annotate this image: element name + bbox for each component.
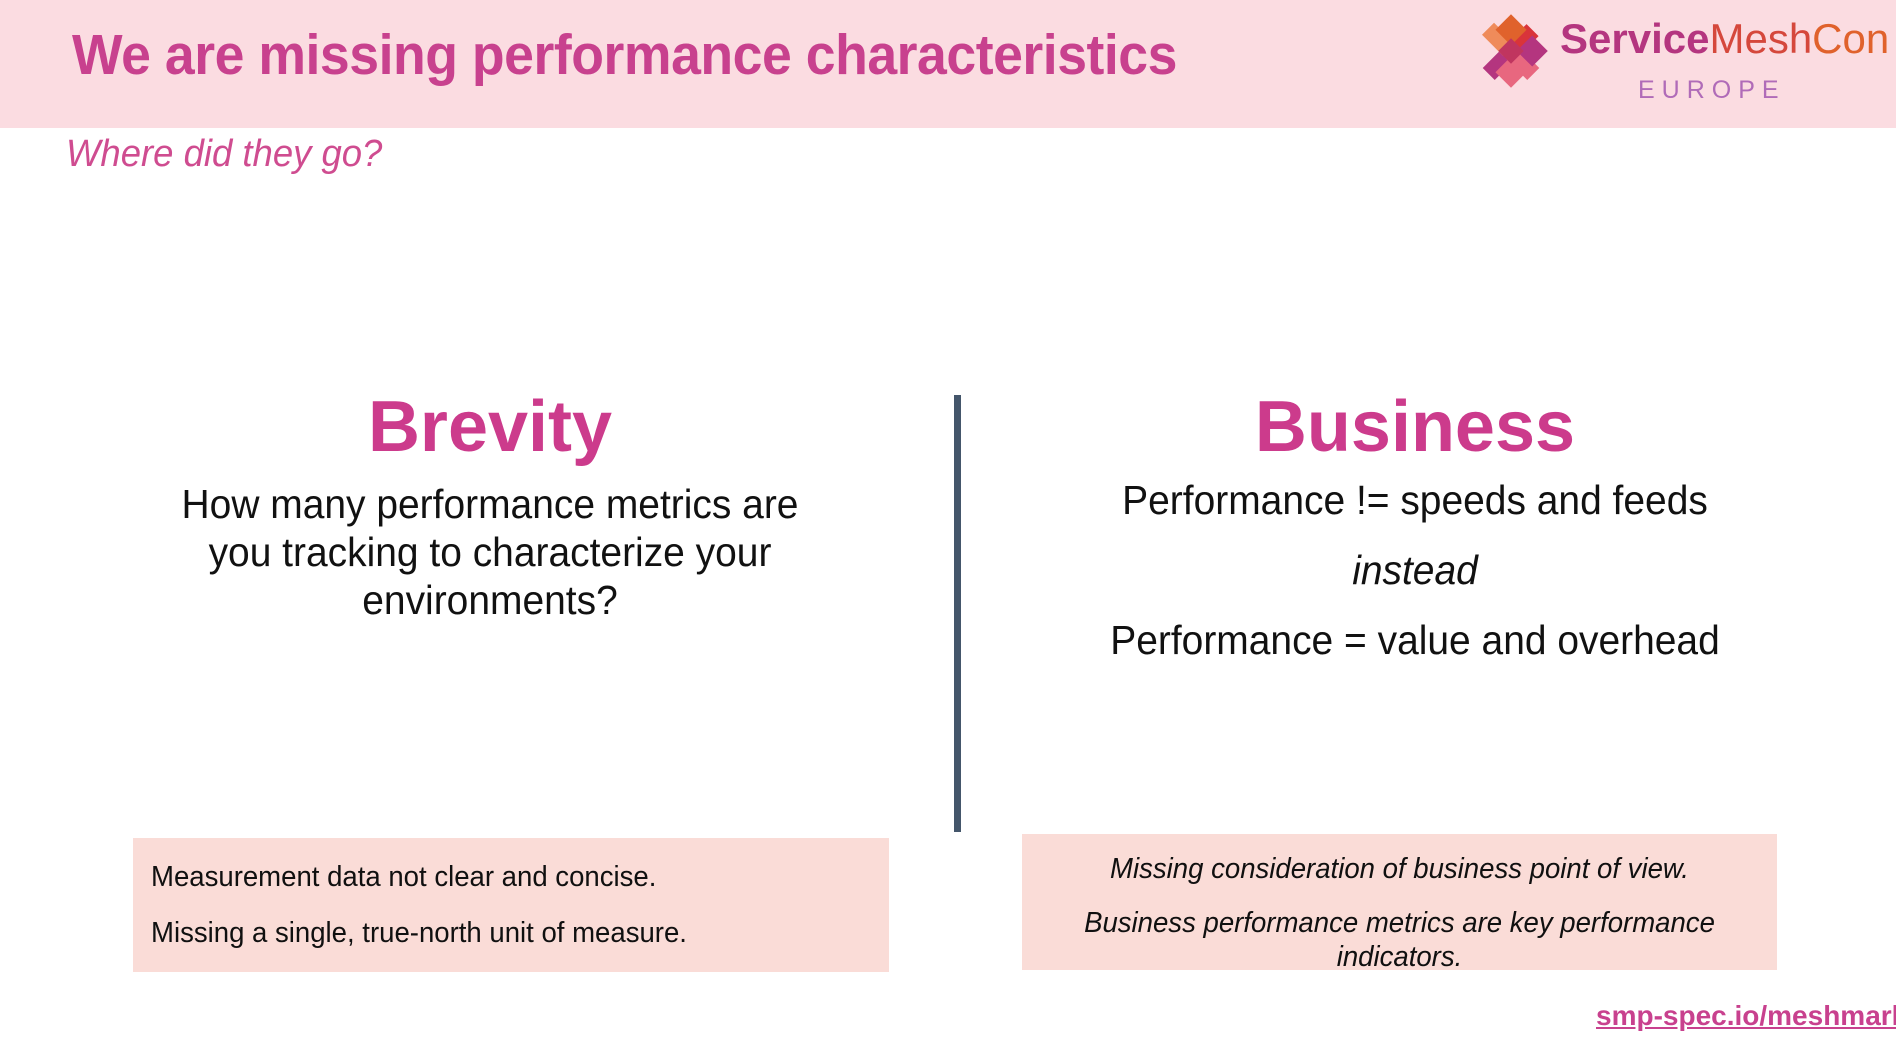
logo-word-mesh: Mesh (1709, 15, 1812, 62)
slide: We are missing performance characteristi… (0, 0, 1896, 1063)
body-line: Performance != speeds and feeds (1011, 476, 1819, 524)
logo-word-con: Con (1812, 15, 1889, 62)
page-title: We are missing performance characteristi… (72, 22, 1177, 88)
column-divider (954, 395, 961, 832)
column-heading-business: Business (990, 390, 1840, 466)
callout-line: Measurement data not clear and concise. (151, 860, 835, 894)
slide-subtitle: Where did they go? (66, 133, 382, 176)
callout-business: Missing consideration of business point … (1022, 834, 1777, 970)
mesh-diamond-icon (1468, 8, 1554, 94)
callout-line: Missing a single, true-north unit of mea… (151, 916, 835, 950)
column-body-business: Performance != speeds and feeds instead … (1011, 476, 1819, 665)
body-line-instead: instead (1011, 546, 1819, 594)
column-business: Business Performance != speeds and feeds… (990, 390, 1840, 665)
callout-brevity: Measurement data not clear and concise. … (133, 838, 889, 972)
column-heading-brevity: Brevity (60, 390, 920, 466)
logo-wordmark: ServiceMeshCon (1560, 18, 1889, 60)
logo-region-label: EUROPE (1638, 76, 1786, 105)
column-body-brevity: How many performance metrics are you tra… (82, 480, 899, 625)
servicemeshcon-logo: ServiceMeshCon EUROPE (1468, 6, 1868, 118)
column-brevity: Brevity How many performance metrics are… (60, 390, 920, 625)
body-line: environments? (82, 576, 899, 624)
body-line: you tracking to characterize your (82, 528, 899, 576)
callout-line: Missing consideration of business point … (1062, 852, 1737, 886)
body-line: Performance = value and overhead (1011, 616, 1819, 664)
logo-word-service: Service (1560, 15, 1709, 62)
callout-line: Business performance metrics are key per… (1062, 906, 1737, 974)
footer-link-smp-spec[interactable]: smp-spec.io/meshmark (1596, 1000, 1896, 1032)
body-line: How many performance metrics are (82, 480, 899, 528)
